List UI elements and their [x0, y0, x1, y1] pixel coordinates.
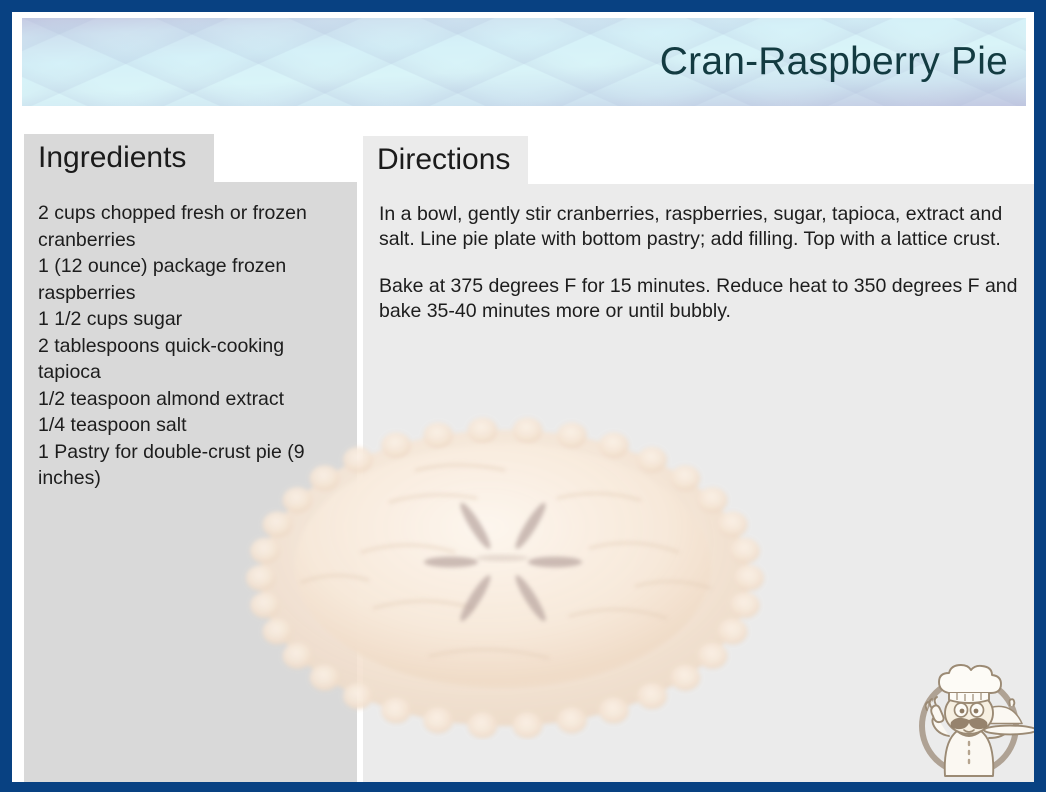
ingredient-item: 1/2 teaspoon almond extract: [38, 386, 341, 413]
slide-canvas: Cran-Raspberry Pie Ingredients Direction…: [12, 12, 1034, 782]
ingredient-item: 1 1/2 cups sugar: [38, 306, 341, 333]
ingredient-item: 2 tablespoons quick-cooking tapioca: [38, 333, 341, 386]
title-banner: Cran-Raspberry Pie: [22, 18, 1026, 106]
section-heading-directions: Directions: [363, 136, 528, 184]
ingredient-item: 1 Pastry for double-crust pie (9 inches): [38, 439, 341, 492]
chef-mascot-logo: [905, 660, 1035, 786]
ingredients-panel: 2 cups chopped fresh or frozen cranberri…: [24, 182, 357, 782]
ingredient-item: 1 (12 ounce) package frozen raspberries: [38, 253, 341, 306]
ingredient-item: 2 cups chopped fresh or frozen cranberri…: [38, 200, 341, 253]
ingredient-list: 2 cups chopped fresh or frozen cranberri…: [38, 200, 341, 492]
section-heading-ingredients: Ingredients: [24, 134, 214, 182]
page-title: Cran-Raspberry Pie: [660, 40, 1008, 84]
directions-heading-label: Directions: [377, 145, 510, 175]
directions-text: In a bowl, gently stir cranberries, rasp…: [379, 202, 1020, 324]
directions-paragraph: Bake at 375 degrees F for 15 minutes. Re…: [379, 274, 1020, 324]
directions-paragraph: In a bowl, gently stir cranberries, rasp…: [379, 202, 1020, 252]
recipe-slide: Cran-Raspberry Pie Ingredients Direction…: [0, 0, 1046, 792]
ingredient-item: 1/4 teaspoon salt: [38, 412, 341, 439]
ingredients-heading-label: Ingredients: [38, 143, 186, 173]
